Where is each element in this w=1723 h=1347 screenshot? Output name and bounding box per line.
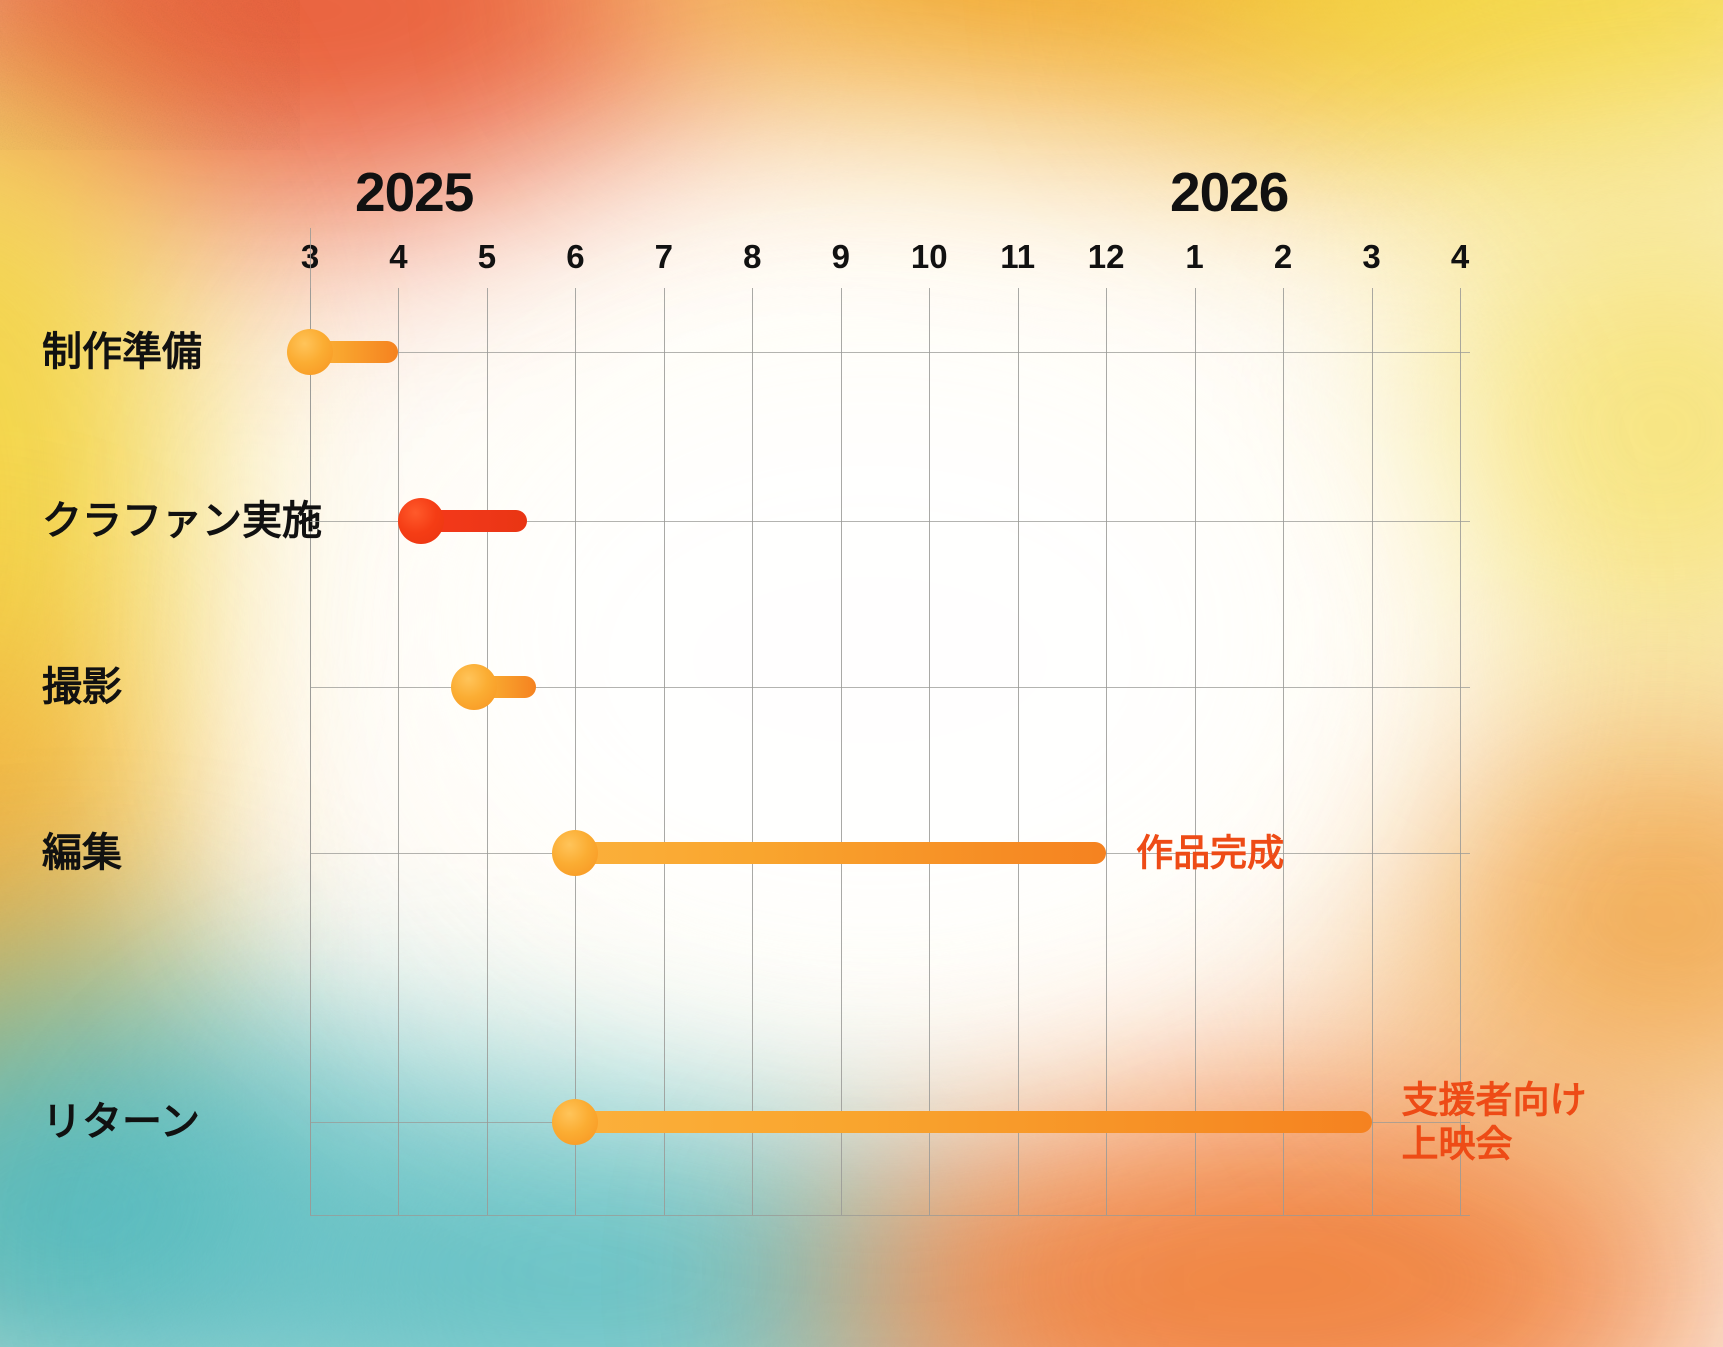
gridline-vertical-6: [841, 288, 842, 1215]
gridline-vertical-3: [575, 288, 576, 1215]
task-start-dot-0[interactable]: [287, 329, 333, 375]
year-label-2026: 2026: [1170, 165, 1288, 220]
gridline-vertical-1: [398, 288, 399, 1215]
month-tick-label-9: 12: [1088, 240, 1125, 273]
gridline-vertical-11: [1283, 288, 1284, 1215]
month-tick-label-4: 7: [655, 240, 673, 273]
month-tick-label-6: 9: [832, 240, 850, 273]
month-tick-label-5: 8: [743, 240, 761, 273]
month-tick-label-3: 6: [566, 240, 584, 273]
month-tick-label-13: 4: [1451, 240, 1469, 273]
month-tick-label-7: 10: [911, 240, 948, 273]
task-start-dot-2[interactable]: [451, 664, 497, 710]
year-label-2025: 2025: [355, 165, 473, 220]
row-label-3: 編集: [42, 833, 122, 873]
month-tick-label-8: 11: [1000, 240, 1035, 273]
row-label-2: 撮影: [42, 667, 122, 707]
gridline-vertical-9: [1106, 288, 1107, 1215]
month-tick-label-1: 4: [389, 240, 407, 273]
row-label-0: 制作準備: [42, 332, 202, 372]
task-annotation-4: 支援者向け 上映会: [1402, 1078, 1587, 1165]
gridline-vertical-12: [1372, 288, 1373, 1215]
gridline-horizontal-0: [310, 352, 1470, 353]
axis-line-bottom: [310, 1215, 1470, 1216]
task-start-dot-4[interactable]: [552, 1099, 598, 1145]
gridline-vertical-4: [664, 288, 665, 1215]
gridline-vertical-8: [1018, 288, 1019, 1215]
month-tick-label-10: 1: [1185, 240, 1203, 273]
gridline-vertical-13: [1460, 288, 1461, 1215]
axis-line-left: [310, 228, 311, 1215]
task-annotation-3: 作品完成: [1136, 832, 1284, 873]
month-tick-label-2: 5: [478, 240, 496, 273]
task-bar-4[interactable]: [575, 1111, 1371, 1133]
task-start-dot-1[interactable]: [398, 498, 444, 544]
task-start-dot-3[interactable]: [552, 830, 598, 876]
gridline-vertical-7: [929, 288, 930, 1215]
row-label-1: クラファン実施: [42, 501, 322, 541]
month-tick-label-12: 3: [1362, 240, 1380, 273]
month-tick-label-11: 2: [1274, 240, 1292, 273]
row-label-4: リターン: [42, 1102, 200, 1142]
gridline-vertical-2: [487, 288, 488, 1215]
gridline-vertical-10: [1195, 288, 1196, 1215]
gridline-vertical-5: [752, 288, 753, 1215]
task-bar-3[interactable]: [575, 842, 1106, 864]
gantt-chart: 2025202634567891011121234制作準備クラファン実施撮影編集…: [0, 0, 1723, 1347]
